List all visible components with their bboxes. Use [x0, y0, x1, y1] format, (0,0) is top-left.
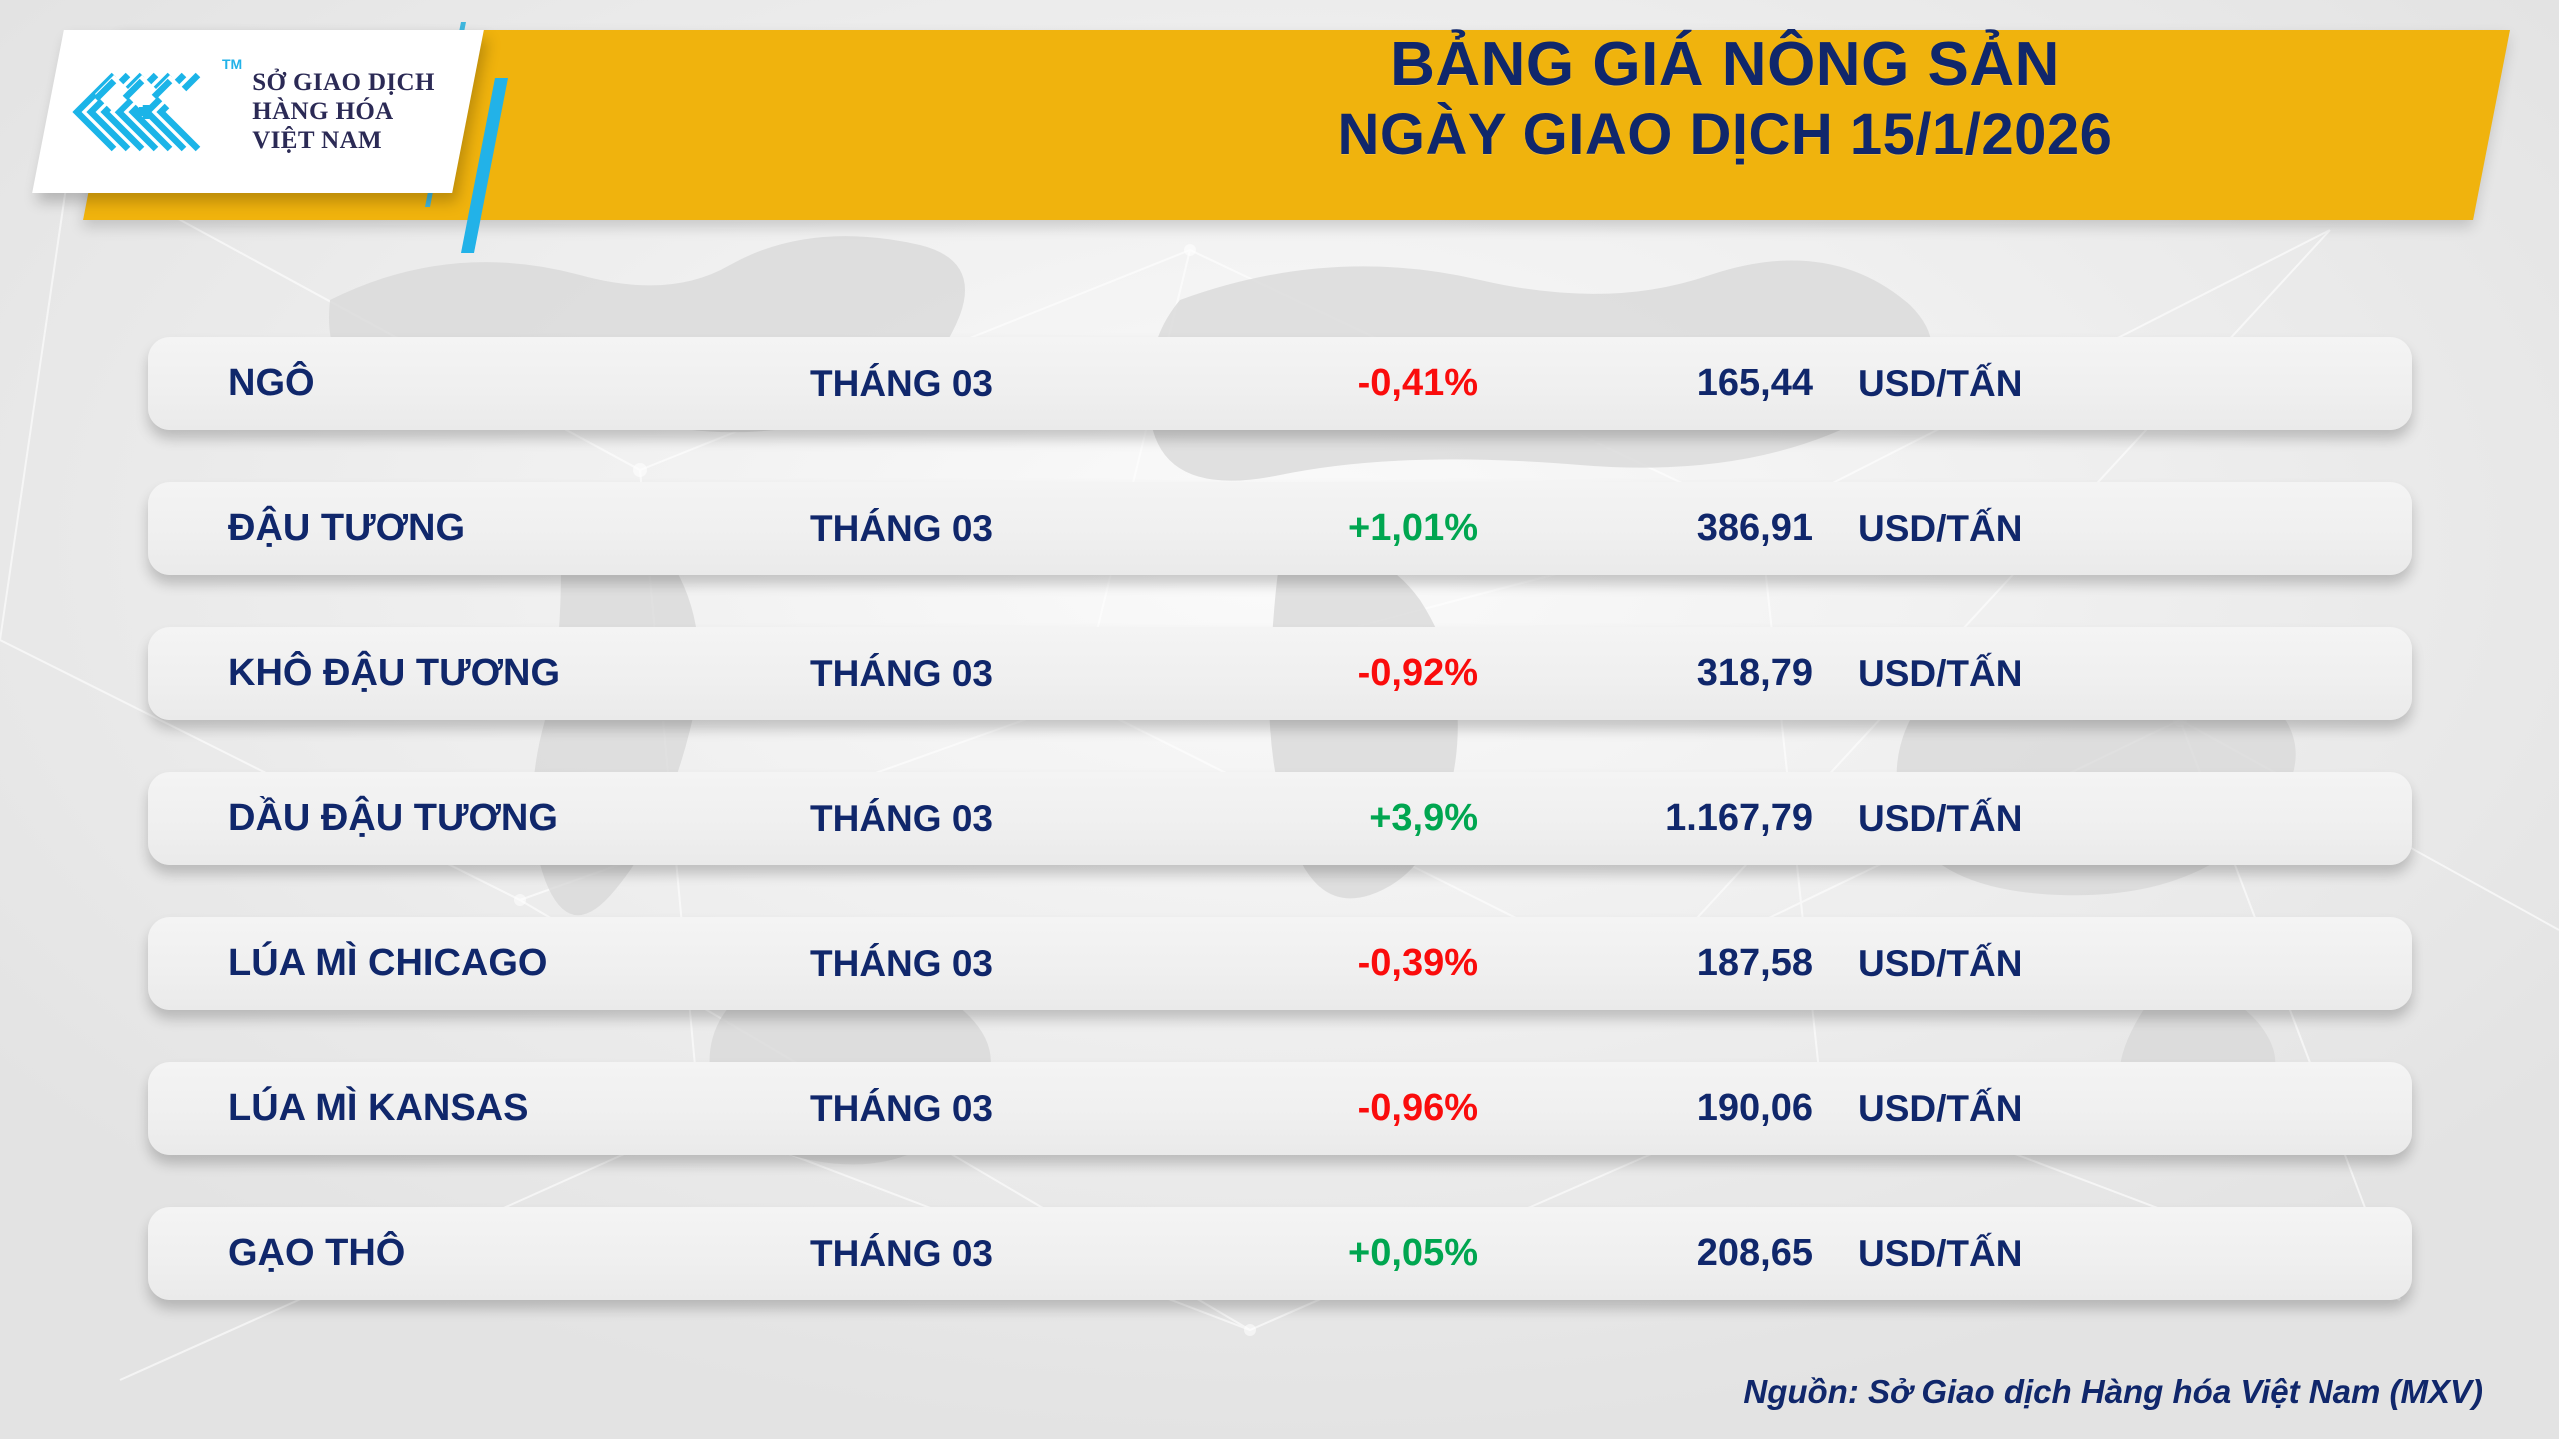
price-value: 190,06	[1543, 1087, 1813, 1130]
commodity-name: LÚA MÌ KANSAS	[228, 1087, 528, 1130]
price-unit: USD/TẤN	[1858, 943, 2022, 985]
price-value: 386,91	[1543, 507, 1813, 550]
price-unit: USD/TẤN	[1858, 508, 2022, 550]
source-note: Nguồn: Sở Giao dịch Hàng hóa Việt Nam (M…	[1743, 1373, 2483, 1411]
contract-month: THÁNG 03	[810, 508, 993, 550]
contract-month: THÁNG 03	[810, 798, 993, 840]
logo-wordmark: SỞ GIAO DỊCH HÀNG HÓA VIỆT NAM	[252, 68, 435, 155]
price-value: 187,58	[1543, 942, 1813, 985]
contract-month: THÁNG 03	[810, 1088, 993, 1130]
contract-month: THÁNG 03	[810, 943, 993, 985]
trademark-symbol: TM	[222, 56, 242, 72]
price-change: -0,96%	[1253, 1087, 1478, 1130]
contract-month: THÁNG 03	[810, 363, 993, 405]
price-table: NGÔTHÁNG 03-0,41%165,44USD/TẤNĐẬU TƯƠNGT…	[148, 337, 2412, 1300]
price-unit: USD/TẤN	[1858, 1233, 2022, 1275]
price-unit: USD/TẤN	[1858, 798, 2022, 840]
page-subtitle: NGÀY GIAO DỊCH 15/1/2026	[1000, 104, 2450, 165]
table-row[interactable]: DẦU ĐẬU TƯƠNGTHÁNG 03+3,9%1.167,79USD/TẤ…	[148, 772, 2412, 865]
commodity-name: KHÔ ĐẬU TƯƠNG	[228, 652, 560, 695]
logo-panel: TM SỞ GIAO DỊCH HÀNG HÓA VIỆT NAM	[32, 30, 484, 193]
price-value: 208,65	[1543, 1232, 1813, 1275]
commodity-name: LÚA MÌ CHICAGO	[228, 942, 547, 985]
page-header: TM SỞ GIAO DỊCH HÀNG HÓA VIỆT NAM BẢNG G…	[0, 0, 2559, 235]
table-row[interactable]: GẠO THÔTHÁNG 03+0,05%208,65USD/TẤN	[148, 1207, 2412, 1300]
table-row[interactable]: NGÔTHÁNG 03-0,41%165,44USD/TẤN	[148, 337, 2412, 430]
mxv-logo-icon	[66, 64, 216, 159]
table-row[interactable]: LÚA MÌ KANSASTHÁNG 03-0,96%190,06USD/TẤN	[148, 1062, 2412, 1155]
table-row[interactable]: KHÔ ĐẬU TƯƠNGTHÁNG 03-0,92%318,79USD/TẤN	[148, 627, 2412, 720]
price-change: -0,92%	[1253, 652, 1478, 695]
header-titles: BẢNG GIÁ NÔNG SẢN NGÀY GIAO DỊCH 15/1/20…	[1000, 32, 2450, 165]
table-row[interactable]: LÚA MÌ CHICAGOTHÁNG 03-0,39%187,58USD/TẤ…	[148, 917, 2412, 1010]
page-title: BẢNG GIÁ NÔNG SẢN	[1000, 32, 2450, 98]
contract-month: THÁNG 03	[810, 1233, 993, 1275]
commodity-name: DẦU ĐẬU TƯƠNG	[228, 797, 558, 840]
logo-line-3: VIỆT NAM	[252, 126, 435, 155]
price-value: 165,44	[1543, 362, 1813, 405]
table-row[interactable]: ĐẬU TƯƠNGTHÁNG 03+1,01%386,91USD/TẤN	[148, 482, 2412, 575]
commodity-name: ĐẬU TƯƠNG	[228, 507, 465, 550]
price-change: -0,41%	[1253, 362, 1478, 405]
price-unit: USD/TẤN	[1858, 1088, 2022, 1130]
logo-line-1: SỞ GIAO DỊCH	[252, 68, 435, 97]
price-change: -0,39%	[1253, 942, 1478, 985]
price-change: +0,05%	[1253, 1232, 1478, 1275]
contract-month: THÁNG 03	[810, 653, 993, 695]
price-unit: USD/TẤN	[1858, 363, 2022, 405]
price-change: +1,01%	[1253, 507, 1478, 550]
price-change: +3,9%	[1253, 797, 1478, 840]
logo-line-2: HÀNG HÓA	[252, 97, 435, 126]
price-unit: USD/TẤN	[1858, 653, 2022, 695]
commodity-name: GẠO THÔ	[228, 1232, 405, 1275]
price-value: 1.167,79	[1543, 797, 1813, 840]
commodity-name: NGÔ	[228, 362, 315, 405]
price-value: 318,79	[1543, 652, 1813, 695]
